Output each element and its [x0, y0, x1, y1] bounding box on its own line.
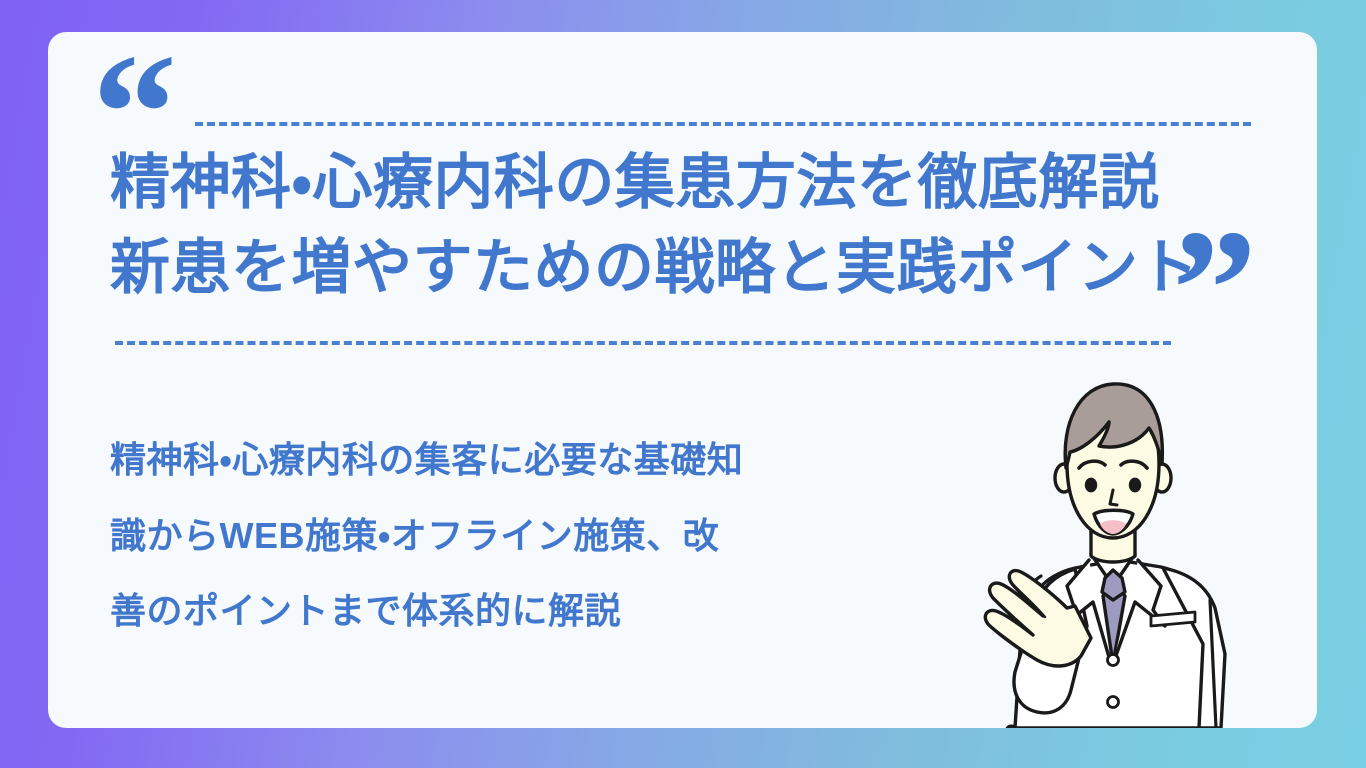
page-title-line-2: 新患を増やすための戦略と実践ポイント [110, 225, 1260, 310]
dashed-rule-bottom [115, 341, 1171, 345]
quote-close-icon: ” [1172, 204, 1253, 374]
lead-line-2: 識からWEB施策・オフライン施策、改 [110, 498, 910, 574]
dashed-rule-top [195, 122, 1251, 126]
lead-line-3: 善のポイントまで体系的に解説 [110, 573, 910, 649]
chest-pocket [1151, 612, 1195, 626]
page-title: 精神科・心療内科の集患方法を徹底解説 新患を増やすための戦略と実践ポイント [110, 140, 1260, 310]
content-card: “ 精神科・心療内科の集患方法を徹底解説 新患を増やすための戦略と実践ポイント … [48, 32, 1317, 728]
page-title-line-1: 精神科・心療内科の集患方法を徹底解説 [110, 140, 1260, 225]
lead-line-1: 精神科・心療内科の集客に必要な基礎知 [110, 422, 910, 498]
slide-background: “ 精神科・心療内科の集患方法を徹底解説 新患を増やすための戦略と実践ポイント … [0, 0, 1366, 768]
doctor-illustration [963, 372, 1263, 728]
lead-paragraph: 精神科・心療内科の集客に必要な基礎知 識からWEB施策・オフライン施策、改 善の… [110, 422, 910, 649]
